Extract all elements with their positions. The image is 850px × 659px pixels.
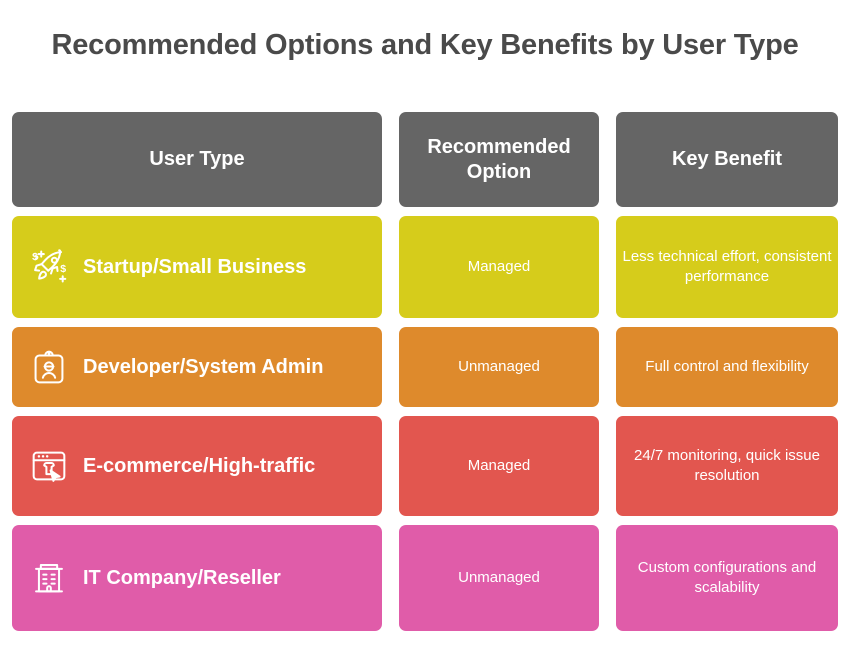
key-benefit-cell: Full control and flexibility: [616, 327, 838, 407]
key-benefit-cell: Less technical effort, consistent perfor…: [616, 216, 838, 318]
svg-text:$: $: [32, 251, 38, 263]
id-badge-person-icon: [26, 344, 72, 390]
online-store-cursor-icon: [26, 443, 72, 489]
user-type-label: E-commerce/High-traffic: [83, 453, 315, 479]
user-type-label: Developer/System Admin: [83, 354, 323, 380]
rocket-money-icon: $ $: [26, 244, 72, 290]
column-header-key-benefit: Key Benefit: [616, 112, 838, 207]
recommended-option-cell: Managed: [399, 216, 599, 318]
column-header-user-type: User Type: [12, 112, 382, 207]
user-type-label: Startup/Small Business: [83, 254, 306, 280]
recommended-option-cell: Managed: [399, 416, 599, 516]
office-building-icon: [26, 555, 72, 601]
table-row: Developer/System Admin Unmanaged Full co…: [12, 327, 838, 407]
user-type-cell: E-commerce/High-traffic: [12, 416, 382, 516]
user-type-cell: $ $ Startup/Small Business: [12, 216, 382, 318]
key-benefit-cell: 24/7 monitoring, quick issue resolution: [616, 416, 838, 516]
user-type-cell: Developer/System Admin: [12, 327, 382, 407]
column-header-recommended-option: Recommended Option: [399, 112, 599, 207]
recommended-option-cell: Unmanaged: [399, 525, 599, 631]
user-type-cell: IT Company/Reseller: [12, 525, 382, 631]
key-benefit-cell: Custom configurations and scalability: [616, 525, 838, 631]
recommended-option-cell: Unmanaged: [399, 327, 599, 407]
svg-text:$: $: [60, 263, 66, 275]
table-header-row: User Type Recommended Option Key Benefit: [12, 112, 838, 207]
table-row: E-commerce/High-traffic Managed 24/7 mon…: [12, 416, 838, 516]
comparison-table: User Type Recommended Option Key Benefit: [12, 112, 838, 631]
user-type-label: IT Company/Reseller: [83, 565, 281, 591]
page-title: Recommended Options and Key Benefits by …: [0, 28, 850, 63]
table-row: IT Company/Reseller Unmanaged Custom con…: [12, 525, 838, 631]
table-row: $ $ Startup/Small Business Managed Less …: [12, 216, 838, 318]
infographic-table-page: Recommended Options and Key Benefits by …: [0, 0, 850, 659]
